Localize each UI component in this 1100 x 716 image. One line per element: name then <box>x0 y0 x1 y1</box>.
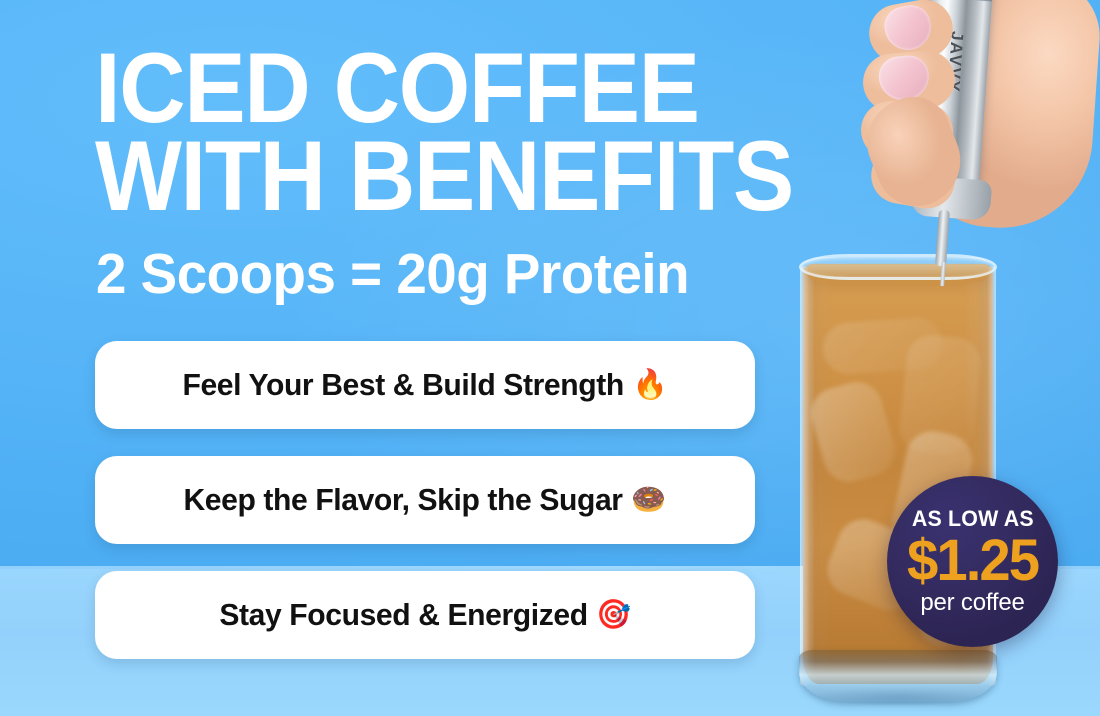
glass-left-highlight <box>800 266 809 686</box>
glass-rim <box>799 254 997 280</box>
frother-ring <box>926 0 992 1</box>
benefit-pill-1-content: Feel Your Best & Build Strength 🔥 <box>183 367 668 403</box>
headline-line-1: ICED COFFEE <box>95 44 765 132</box>
hand-holding-frother: JAVVY <box>855 0 1100 257</box>
bullseye-emoji: 🎯 <box>596 601 631 630</box>
headline: ICED COFFEE WITH BENEFITS <box>95 44 765 219</box>
fire-emoji: 🔥 <box>633 371 668 400</box>
benefit-pill-1[interactable]: Feel Your Best & Build Strength 🔥 <box>95 341 755 429</box>
benefit-pill-2-content: Keep the Flavor, Skip the Sugar 🍩 <box>184 482 667 518</box>
subheadline: 2 Scoops = 20g Protein <box>96 241 689 307</box>
price-badge[interactable]: AS LOW AS $1.25 per coffee <box>887 476 1058 647</box>
benefit-list: Feel Your Best & Build Strength 🔥 Keep t… <box>95 341 755 686</box>
benefit-pill-3-label: Stay Focused & Energized <box>219 597 587 633</box>
benefit-pill-3[interactable]: Stay Focused & Energized 🎯 <box>95 571 755 659</box>
price-badge-amount: $1.25 <box>907 533 1038 588</box>
benefit-pill-1-label: Feel Your Best & Build Strength <box>183 367 624 403</box>
price-badge-sub-label: per coffee <box>920 589 1024 617</box>
benefit-pill-2-label: Keep the Flavor, Skip the Sugar <box>184 482 623 518</box>
benefit-pill-2[interactable]: Keep the Flavor, Skip the Sugar 🍩 <box>95 456 755 544</box>
glass-base <box>799 650 997 702</box>
ice-cube <box>805 376 901 488</box>
headline-line-2: WITH BENEFITS <box>95 132 765 220</box>
benefit-pill-3-content: Stay Focused & Energized 🎯 <box>219 597 631 633</box>
doughnut-emoji: 🍩 <box>632 486 667 515</box>
iced-coffee-protein-ad: JAVVY ICED COFFEE WITH BENEFITS 2 Scoops… <box>0 0 1100 716</box>
